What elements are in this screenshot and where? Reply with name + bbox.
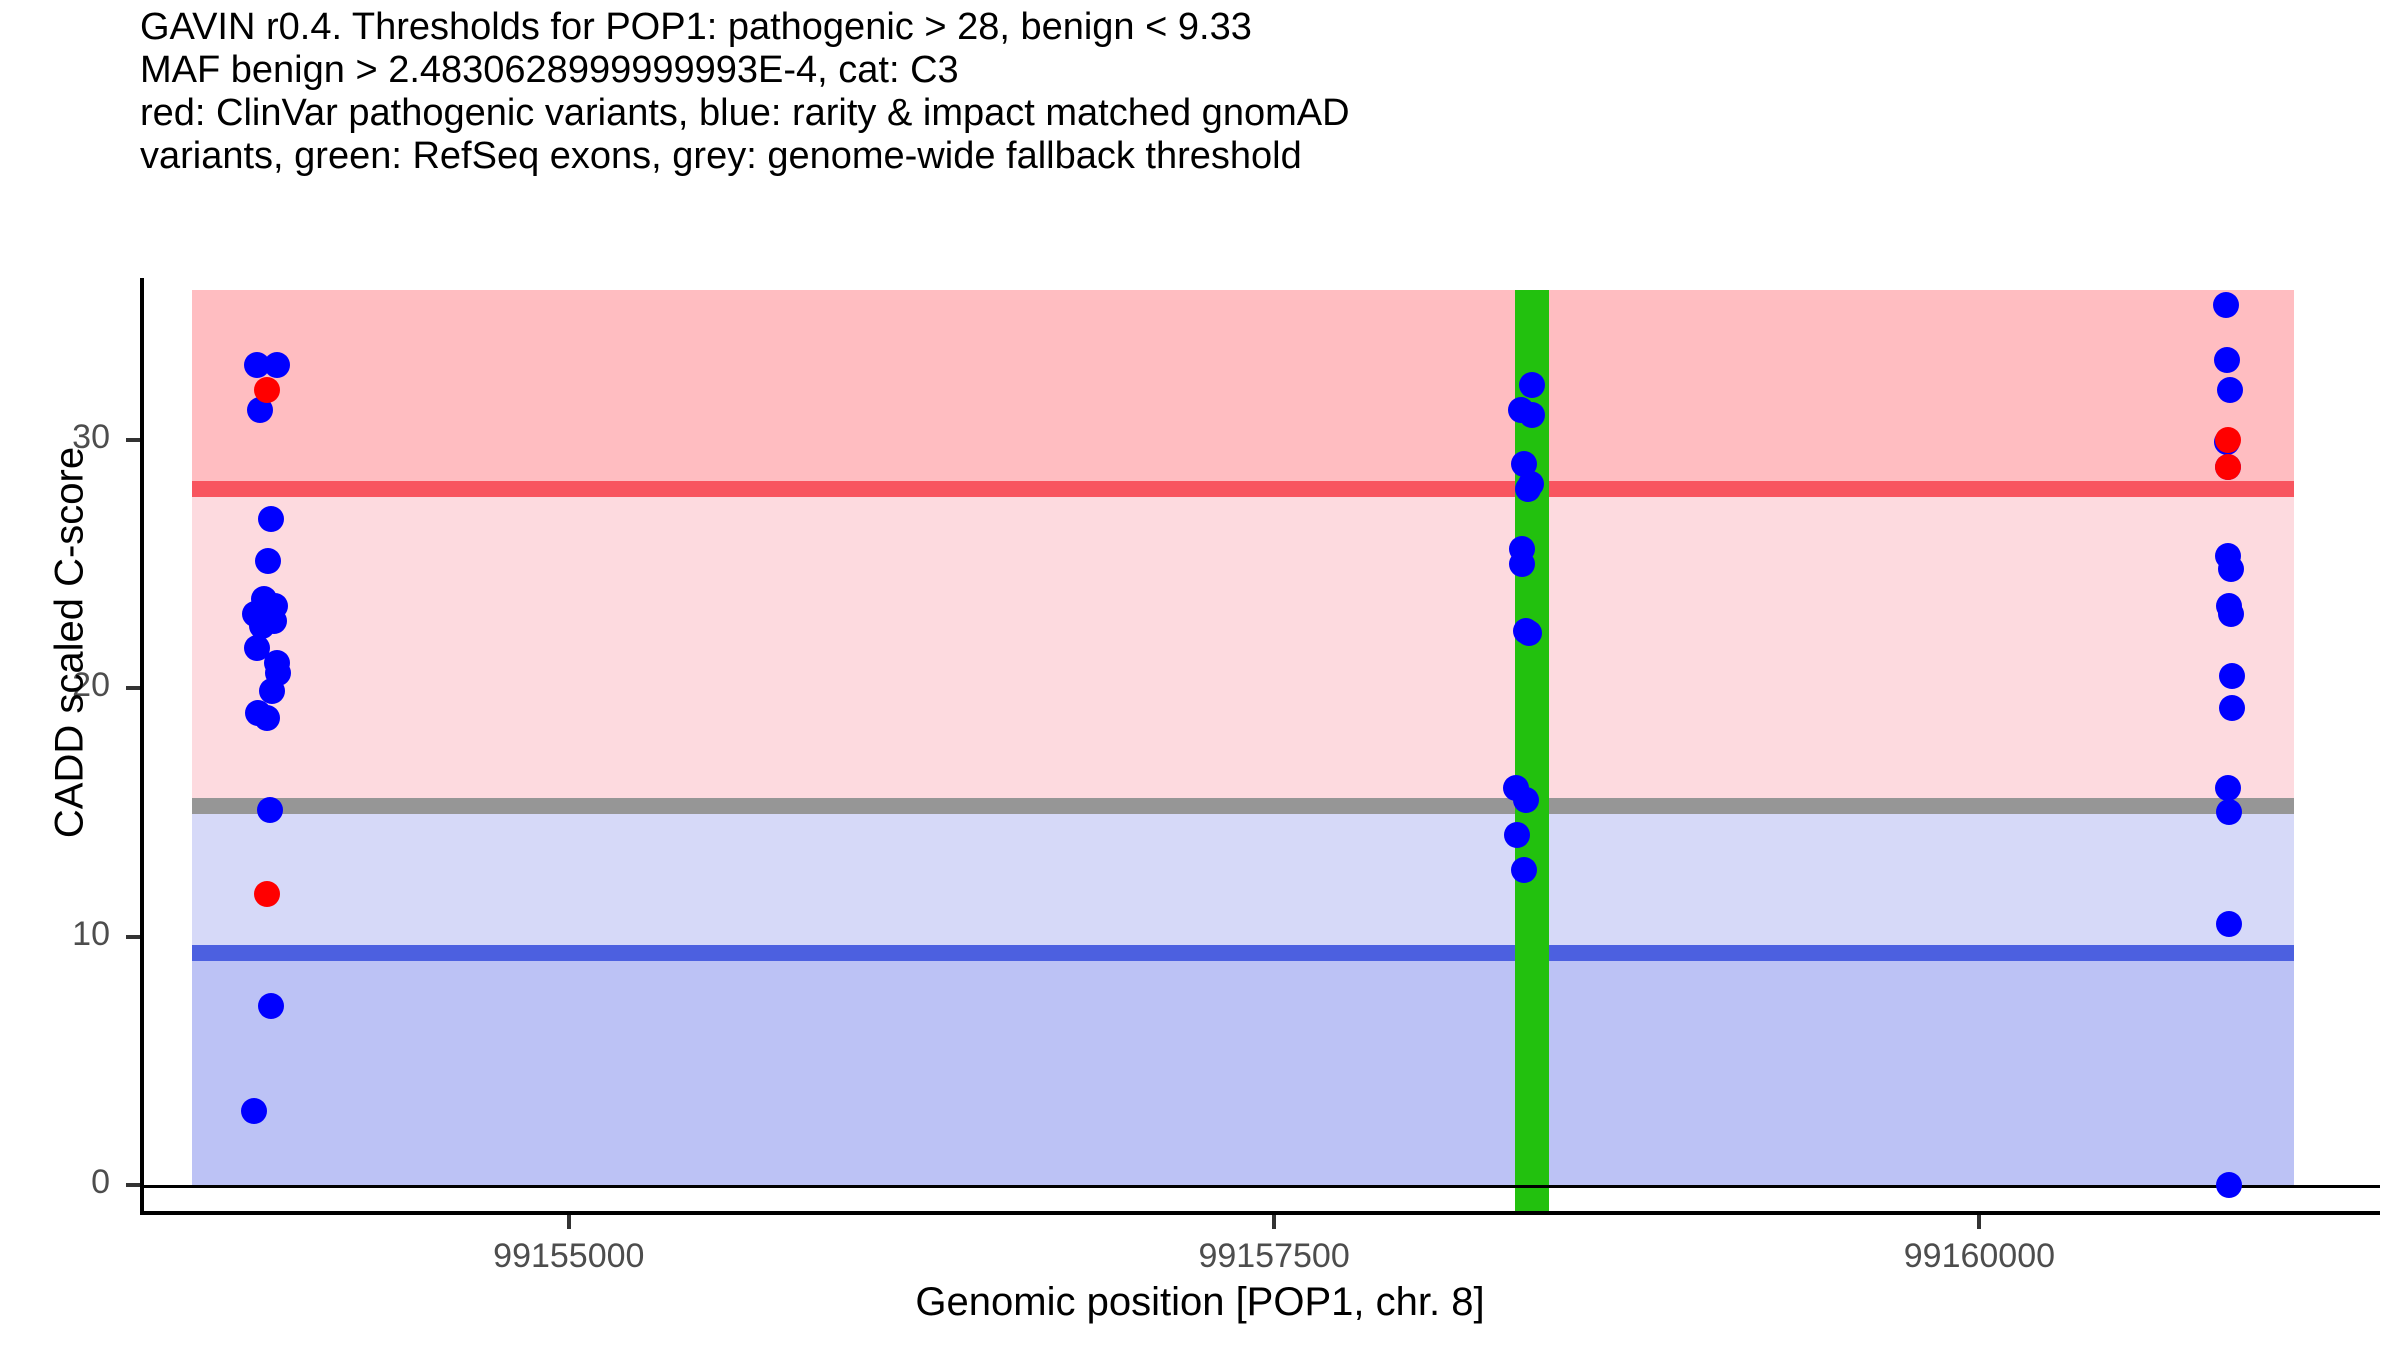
plot-panel	[140, 278, 2380, 1215]
x-axis-title: Genomic position [POP1, chr. 8]	[0, 1280, 2400, 1325]
zone-vus	[192, 497, 2294, 798]
exon-marker-0	[1515, 290, 1549, 1211]
chart-root: GAVIN r0.4. Thresholds for POP1: pathoge…	[0, 0, 2400, 1350]
y-tick-label: 0	[0, 1163, 110, 1202]
zero-baseline	[144, 1185, 2380, 1188]
y-tick-mark	[126, 686, 140, 690]
x-tick-mark	[1977, 1215, 1981, 1229]
gnomad-variant-point	[241, 1098, 267, 1124]
gnomad-variant-point	[2219, 695, 2245, 721]
gnomad-variant-point	[264, 352, 290, 378]
x-tick-label: 99155000	[409, 1237, 729, 1276]
gnomad-variant-point	[258, 993, 284, 1019]
gnomad-variant-point	[1515, 476, 1541, 502]
pathogenic-threshold-line	[192, 481, 2294, 497]
x-tick-label: 99160000	[1819, 1237, 2139, 1276]
chart-title: GAVIN r0.4. Thresholds for POP1: pathoge…	[140, 6, 2380, 178]
gnomad-variant-point	[2218, 556, 2244, 582]
y-tick-mark	[126, 438, 140, 442]
gnomad-variant-point	[1511, 857, 1537, 883]
gnomad-variant-point	[257, 797, 283, 823]
gnomad-variant-point	[2215, 775, 2241, 801]
gnomad-variant-point	[258, 506, 284, 532]
gnomad-variant-point	[2216, 1172, 2242, 1198]
gnomad-variant-point	[1504, 822, 1530, 848]
x-tick-mark	[1272, 1215, 1276, 1229]
y-axis-title: CADD scaled C-score	[48, 173, 93, 1113]
benign-threshold-line	[192, 945, 2294, 961]
clinvar-pathogenic-point	[254, 377, 280, 403]
title-line-3: red: ClinVar pathogenic variants, blue: …	[140, 92, 2380, 135]
zone-benign	[192, 961, 2294, 1185]
zone-pathogenic	[192, 290, 2294, 481]
title-line-2: MAF benign > 2.4830628999999993E-4, cat:…	[140, 49, 2380, 92]
gnomad-variant-point	[259, 678, 285, 704]
y-tick-mark	[126, 935, 140, 939]
plot-area	[144, 278, 2380, 1211]
zone-benign-upper	[192, 814, 2294, 945]
gnomad-variant-point	[254, 705, 280, 731]
gnomad-variant-point	[1513, 787, 1539, 813]
gnomad-variant-point	[1519, 372, 1545, 398]
gnomad-variant-point	[2219, 663, 2245, 689]
genome-wide-fallback-line	[192, 798, 2294, 814]
clinvar-pathogenic-point	[254, 881, 280, 907]
gnomad-variant-point	[1509, 551, 1535, 577]
gnomad-variant-point	[2217, 377, 2243, 403]
y-tick-mark	[126, 1183, 140, 1187]
gnomad-variant-point	[2218, 601, 2244, 627]
title-line-1: GAVIN r0.4. Thresholds for POP1: pathoge…	[140, 6, 2380, 49]
title-line-4: variants, green: RefSeq exons, grey: gen…	[140, 135, 2380, 178]
x-tick-label: 99157500	[1114, 1237, 1434, 1276]
gnomad-variant-point	[1519, 402, 1545, 428]
clinvar-pathogenic-point	[2215, 427, 2241, 453]
clinvar-pathogenic-point	[2215, 454, 2241, 480]
x-tick-mark	[567, 1215, 571, 1229]
